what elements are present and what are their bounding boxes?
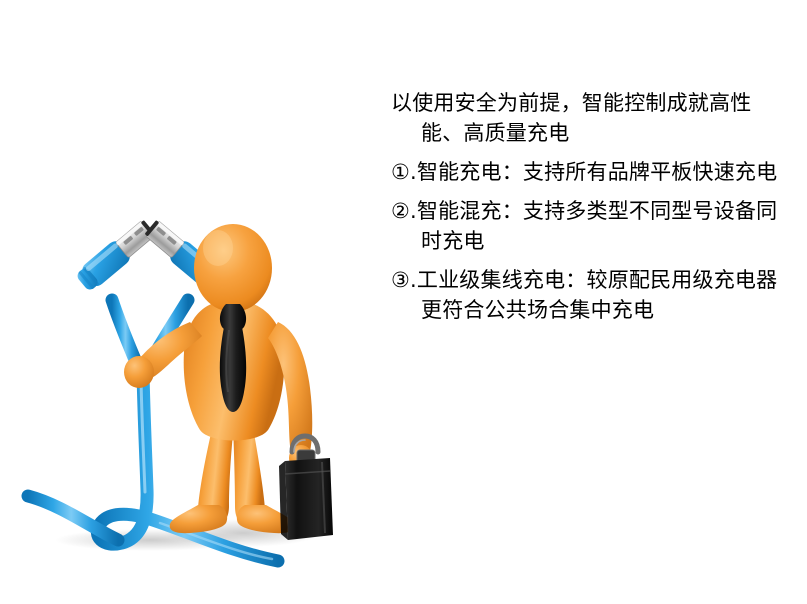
list-item: ②.智能混充：支持多类型不同型号设备同时充电 (391, 196, 781, 256)
list-item-text-3: 工业级集线充电：较原配民用级充电器更符合公共场合集中充电 (417, 268, 777, 322)
necktie (220, 304, 246, 412)
slide-text-block: 以使用安全为前提，智能控制成就高性能、高质量充电 ①.智能充电：支持所有品牌平板… (391, 88, 781, 334)
head (194, 224, 272, 312)
cable-hand (124, 356, 154, 388)
list-marker-1: ①. (391, 160, 417, 184)
list-item-text-1: 智能充电：支持所有品牌平板快速充电 (417, 160, 777, 184)
list-marker-2: ②. (391, 199, 417, 223)
orange-figure (124, 224, 333, 540)
slide-heading: 以使用安全为前提，智能控制成就高性能、高质量充电 (391, 88, 781, 148)
list-item: ①.智能充电：支持所有品牌平板快速充电 (391, 157, 781, 187)
list-item: ③.工业级集线充电：较原配民用级充电器更符合公共场合集中充电 (391, 265, 781, 325)
list-item-text-2: 智能混充：支持多类型不同型号设备同时充电 (417, 199, 777, 253)
list-marker-3: ③. (391, 268, 417, 292)
briefcase (279, 436, 333, 540)
usb-businessman-illustration (0, 0, 380, 604)
usb-connector-left (74, 217, 158, 293)
presentation-slide: 以使用安全为前提，智能控制成就高性能、高质量充电 ①.智能充电：支持所有品牌平板… (0, 0, 807, 604)
